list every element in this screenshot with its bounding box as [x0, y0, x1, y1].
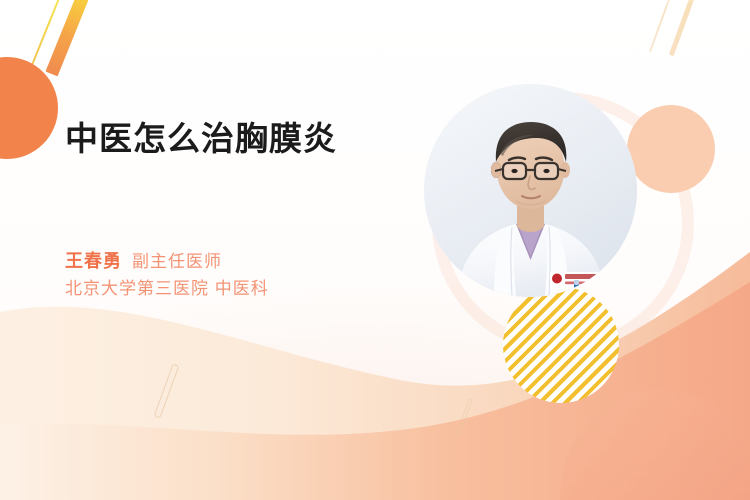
yellow-striped-circle: [503, 287, 619, 403]
doctor-intro-card: 中医怎么治胸膜炎 王春勇副主任医师 北京大学第三医院 中医科: [0, 0, 750, 500]
doctor-name: 王春勇: [65, 251, 122, 271]
doctor-credentials: 王春勇副主任医师 北京大学第三医院 中医科: [65, 248, 425, 303]
page-title: 中医怎么治胸膜炎: [65, 118, 425, 159]
peach-circle: [627, 105, 715, 193]
doctor-name-line: 王春勇副主任医师: [65, 248, 425, 276]
doctor-affiliation: 北京大学第三医院 中医科: [65, 279, 269, 298]
title-block: 中医怎么治胸膜炎: [65, 118, 425, 159]
doctor-rank: 副主任医师: [132, 252, 222, 271]
doctor-portrait: [424, 84, 637, 297]
doctor-affiliation-line: 北京大学第三医院 中医科: [65, 276, 425, 303]
